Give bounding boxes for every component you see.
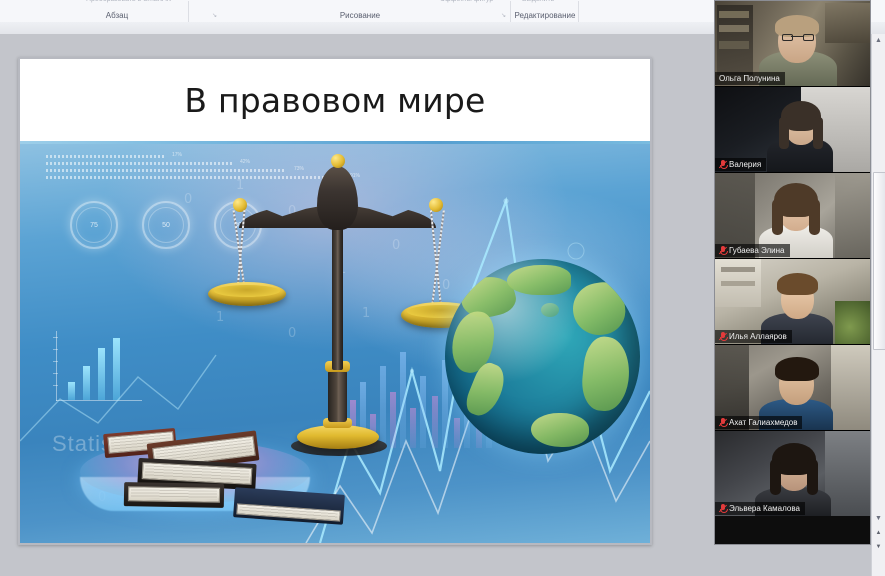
participant-1-name: Ольга Полунина <box>719 73 780 84</box>
ribbon-group-paragraph-label: Абзац <box>106 11 128 20</box>
scales-pan-left <box>208 282 286 306</box>
scrollbar-up-arrow[interactable]: ▲ <box>872 34 885 47</box>
participant-4-name: Илья Аллаяров <box>729 331 787 342</box>
participant-2-name: Валерия <box>729 159 761 170</box>
video-tile-participant-2[interactable]: Валерия <box>715 87 870 173</box>
mic-muted-icon-4 <box>719 332 726 341</box>
participant-name-label-3: Губаева Элина <box>715 244 790 257</box>
mic-muted-icon-6 <box>719 504 726 513</box>
ribbon-separator-1 <box>188 1 189 22</box>
scales-lower-post <box>328 370 347 422</box>
video-participants-panel[interactable]: Ольга Полунина Валерия <box>714 0 871 545</box>
svg-text:0: 0 <box>184 192 192 207</box>
ribbon-group-paragraph[interactable]: Абзац <box>62 9 172 22</box>
video-tile-participant-1[interactable]: Ольга Полунина <box>715 1 870 87</box>
page-title: В правовом мире <box>184 81 485 120</box>
participant-name-label-1: Ольга Полунина <box>715 72 785 85</box>
scales-post <box>332 220 343 370</box>
participant-3-name: Губаева Элина <box>729 245 785 256</box>
participant-name-label-2: Валерия <box>715 158 766 171</box>
mic-muted-icon-5 <box>719 418 726 427</box>
mic-muted-icon-3 <box>719 246 726 255</box>
scrollbar-down-arrow[interactable]: ▼ <box>872 512 885 525</box>
next-slide-button[interactable]: ▼ <box>872 542 885 553</box>
vertical-scrollbar[interactable]: ▲ ▼ ▲ ▼ <box>871 34 885 576</box>
ribbon-group-editing-label: Редактирование <box>515 11 576 20</box>
scales-finial <box>317 166 358 230</box>
participant-5-name: Ахат Галиахмедов <box>729 417 797 428</box>
participant-name-label-6: Эльвера Камалова <box>715 502 805 515</box>
scales-of-justice <box>213 146 463 476</box>
slide-title-placeholder[interactable]: В правовом мире <box>20 59 650 141</box>
ribbon-group-drawing-label: Рисование <box>340 11 380 20</box>
ribbon-control-select[interactable]: Выделить <box>522 0 554 3</box>
participant-6-name: Эльвера Камалова <box>729 503 800 514</box>
ribbon-group-drawing[interactable]: Рисование <box>300 9 420 22</box>
powerpoint-window: Преобразовать в SmartArt Эффекты фигур В… <box>0 0 885 576</box>
participant-name-label-5: Ахат Галиахмедов <box>715 416 802 429</box>
earth-globe <box>445 259 640 454</box>
ribbon-group-editing[interactable]: Редактирование <box>512 9 578 22</box>
slide-frame[interactable]: В правовом мире 17% 42% 73% 91% 75 <box>18 57 652 545</box>
ribbon-separator-3 <box>578 1 579 22</box>
ribbon-separator-2 <box>510 1 511 22</box>
scales-base <box>297 425 379 449</box>
participant-name-label-4: Илья Аллаяров <box>715 330 792 343</box>
video-tile-participant-6[interactable]: Эльвера Камалова <box>715 431 870 516</box>
previous-slide-button[interactable]: ▲ <box>872 528 885 539</box>
slide-canvas[interactable]: В правовом мире 17% 42% 73% 91% 75 <box>20 59 650 543</box>
ribbon-control-smartart[interactable]: Преобразовать в SmartArt <box>86 0 171 3</box>
drawing-dialog-launcher-icon[interactable]: ↘ <box>501 13 507 19</box>
ribbon-control-shape-effects[interactable]: Эффекты фигур <box>440 0 493 3</box>
mic-muted-icon-2 <box>719 160 726 169</box>
book-bottom <box>124 482 224 508</box>
video-tile-participant-3[interactable]: Губаева Элина <box>715 173 870 259</box>
scrollbar-thumb[interactable] <box>873 172 885 350</box>
paragraph-dialog-launcher-icon[interactable]: ↘ <box>212 13 218 19</box>
slide-picture[interactable]: 17% 42% 73% 91% 75 50 30 <box>20 141 650 543</box>
video-tile-participant-5[interactable]: Ахат Галиахмедов <box>715 345 870 431</box>
scales-top-ball <box>331 154 345 168</box>
video-tile-participant-4[interactable]: Илья Аллаяров <box>715 259 870 345</box>
